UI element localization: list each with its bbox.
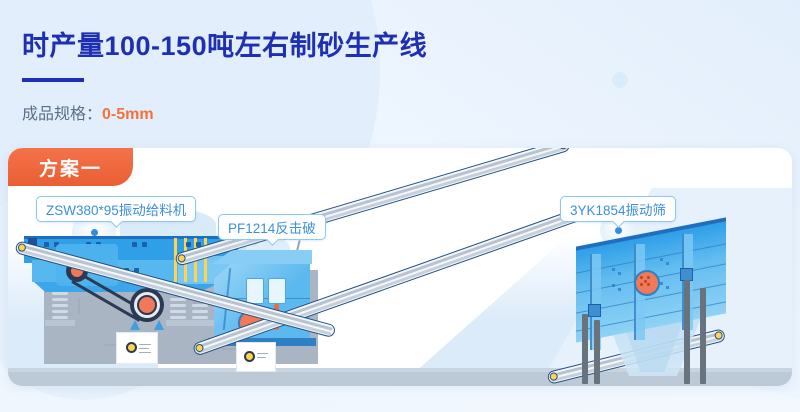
page-title: 时产量100-150吨左右制砂生产线 [22,24,427,63]
screen-dot [660,282,663,285]
screen-dot [612,268,615,271]
label-vibrating-feeder[interactable]: ZSW380*95振动给料机 [36,196,196,222]
control-ray [139,348,149,349]
screen-leg-3 [684,280,690,384]
screen-leg-2 [594,320,600,384]
screen-leg-4 [700,288,706,384]
control-box-left [116,332,158,364]
label-impact-crusher-text: PF1214反击破 [228,217,316,237]
spec-value: 0-5mm [102,106,154,123]
spec-label: 成品规格： [22,106,102,123]
screen-dot [618,288,621,291]
control-eye-icon [126,342,137,353]
label-impact-crusher[interactable]: PF1214反击破 [218,214,326,240]
feeder-stud [186,242,191,247]
control-ray [257,353,268,354]
feeder-spring-left [52,292,68,320]
plan-badge-label: 方案一 [39,154,102,181]
screen-dot [660,258,663,261]
feeder-stud [142,242,147,247]
label-vibrating-screen-text: 3YK1854振动筛 [570,199,666,219]
screen-dot [618,272,621,275]
control-ray [257,357,266,358]
drive-pulley-large-hub [139,297,155,313]
screen-leg-1 [582,314,588,384]
spec-line: 成品规格：0-5mm [22,100,154,124]
control-box-crusher [236,342,276,372]
control-eye-icon [244,351,255,362]
screen-rib-line-left [590,254,592,350]
feeder-stud [44,242,49,247]
screen-exciter-hub [634,270,660,296]
feeder-spring-cap-left [45,320,75,326]
plan-badge: 方案一 [8,148,133,186]
screen-rib-line-mid [634,244,636,340]
screen-mount-plate-left [588,304,601,317]
label-vibrating-feeder-text: ZSW380*95振动给料机 [46,199,186,219]
screen-dot [612,284,615,287]
screen-dot [666,286,669,289]
label-vibrating-screen[interactable]: 3YK1854振动筛 [560,196,676,222]
screen-dot [666,262,669,265]
plan-card: UUU [8,148,792,386]
feeder-stud [132,242,137,247]
header: 时产量100-150吨左右制砂生产线 成品规格：0-5mm [0,0,800,148]
crusher-window-right [268,278,286,304]
flowsheet-infographic: 时产量100-150吨左右制砂生产线 成品规格：0-5mm UUU [0,0,800,412]
control-ray [139,352,151,353]
control-ray [139,344,151,345]
title-underline [22,78,84,82]
crusher-window-left [246,278,264,304]
